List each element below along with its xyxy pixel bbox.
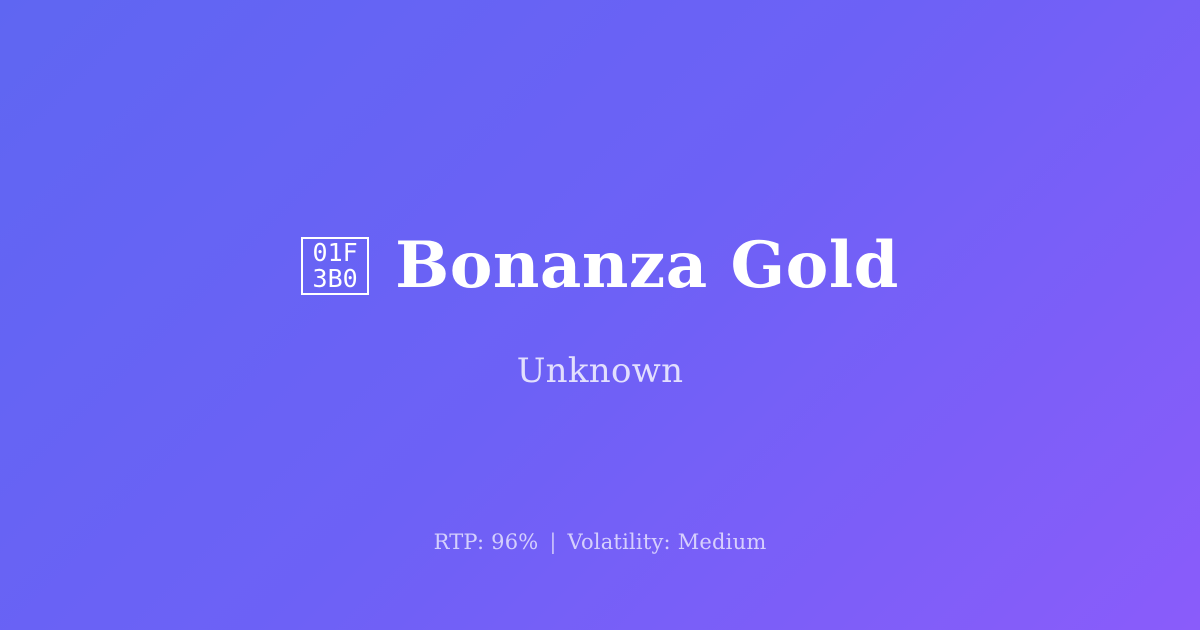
tofu-codepoint-bottom: 3B0 [313, 266, 358, 292]
slot-machine-tofu-icon: 01F 3B0 [301, 237, 369, 295]
title-row: 01F 3B0 Bonanza Gold [301, 232, 899, 299]
game-title: Bonanza Gold [395, 232, 899, 299]
game-stats-line: RTP: 96% | Volatility: Medium [0, 529, 1200, 555]
game-preview-card: 01F 3B0 Bonanza Gold Unknown RTP: 96% | … [0, 0, 1200, 630]
tofu-codepoint-top: 01F [313, 240, 358, 266]
volatility-label: Volatility: [568, 530, 671, 554]
rtp-label: RTP: [434, 530, 485, 554]
rtp-value: 96% [491, 530, 538, 554]
volatility-value: Medium [678, 530, 767, 554]
game-provider-subtitle: Unknown [517, 351, 684, 392]
stats-separator: | [545, 530, 560, 554]
hero-block: 01F 3B0 Bonanza Gold Unknown [0, 232, 1200, 392]
